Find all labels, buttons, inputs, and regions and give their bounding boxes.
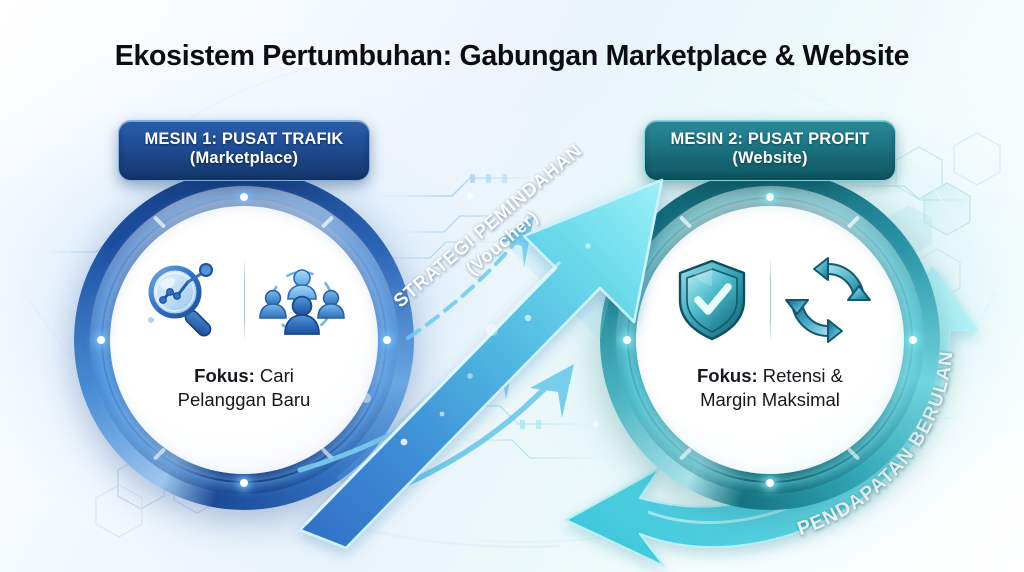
ring-node-icon	[97, 336, 105, 344]
ring-node-icon	[240, 193, 248, 201]
ring-node-icon	[766, 479, 774, 487]
engine-one-badge-line1: MESIN 1: PUSAT TRAFIK	[144, 130, 343, 148]
engine-two-badge-line1: MESIN 2: PUSAT PROFIT	[670, 130, 869, 148]
engine-two-group: Fokus: Retensi & Margin Maksimal MESIN 2…	[600, 110, 940, 550]
strategi-pemindahan-label: STRATEGI PEMINDAHAN (Voucher)	[389, 139, 601, 329]
magnifier-analytics-icon	[129, 254, 244, 346]
engine-two-inner-disc: Fokus: Retensi & Margin Maksimal	[636, 206, 904, 474]
engine-one-icon-row	[129, 254, 359, 346]
people-network-icon	[245, 254, 360, 346]
engine-two-badge[interactable]: MESIN 2: PUSAT PROFIT (Website)	[644, 120, 896, 181]
engine-two-focus-value-1: Retensi &	[763, 365, 843, 386]
engine-two-icon-row	[655, 254, 885, 346]
page-title: Ekosistem Pertumbuhan: Gabungan Marketpl…	[0, 40, 1024, 73]
engine-one-group: Fokus: Cari Pelanggan Baru MESIN 1: PUSA…	[74, 110, 414, 550]
ring-node-icon	[240, 479, 248, 487]
engine-two-focus-text: Fokus: Retensi & Margin Maksimal	[651, 364, 889, 411]
strategi-pemindahan-label-line1: STRATEGI PEMINDAHAN	[390, 140, 586, 312]
engine-one-focus-value-2: Pelanggan Baru	[178, 389, 311, 410]
ring-node-icon	[383, 336, 391, 344]
refresh-cycle-icon	[771, 254, 886, 346]
engine-two-badge-line2: (Website)	[655, 149, 885, 168]
ring-node-icon	[766, 193, 774, 201]
engine-one-focus-text: Fokus: Cari Pelanggan Baru	[125, 364, 363, 411]
engine-one-focus-label: Fokus:	[194, 365, 255, 386]
engine-one-badge[interactable]: MESIN 1: PUSAT TRAFIK (Marketplace)	[118, 120, 370, 181]
strategi-pemindahan-label-line2: (Voucher)	[404, 157, 601, 330]
ring-node-icon	[909, 336, 917, 344]
engine-two-focus-label: Fokus:	[697, 365, 758, 386]
engine-two-ring: Fokus: Retensi & Margin Maksimal	[600, 170, 940, 510]
ring-node-icon	[623, 336, 631, 344]
engine-one-focus-value-1: Cari	[260, 365, 294, 386]
shield-check-icon	[655, 254, 770, 346]
engine-two-focus-value-2: Margin Maksimal	[700, 389, 840, 410]
engine-one-ring: Fokus: Cari Pelanggan Baru	[74, 170, 414, 510]
engine-one-badge-line2: (Marketplace)	[129, 149, 359, 168]
engine-one-inner-disc: Fokus: Cari Pelanggan Baru	[110, 206, 378, 474]
infographic-canvas: Ekosistem Pertumbuhan: Gabungan Marketpl…	[0, 0, 1024, 572]
